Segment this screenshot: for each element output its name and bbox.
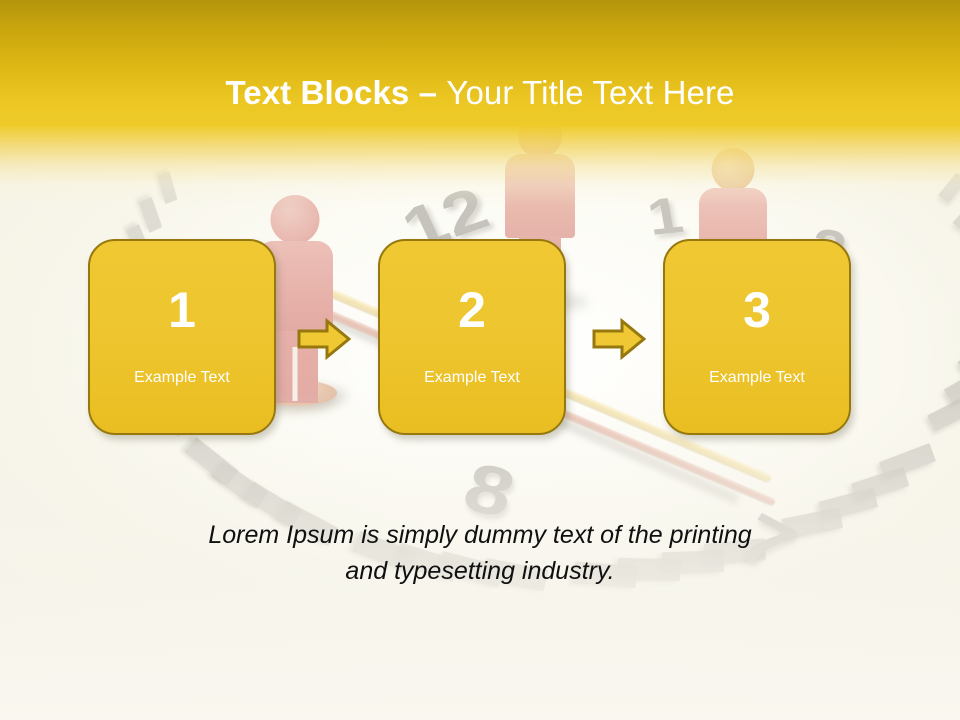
caption-line-2: and typesetting industry. [80, 554, 880, 590]
step-label-3[interactable]: Example Text [665, 369, 849, 387]
right-arrow-icon [297, 318, 351, 360]
step-number-3: 3 [665, 285, 849, 335]
page-title-bold: Text Blocks [225, 74, 409, 111]
right-arrow-icon [592, 318, 646, 360]
figurine-torso [505, 154, 575, 238]
arrow-step-1-to-2 [297, 318, 351, 360]
figurine-head [712, 148, 755, 191]
arrow-step-2-to-3 [592, 318, 646, 360]
step-label-1[interactable]: Example Text [90, 369, 274, 387]
caption-text: Lorem Ipsum is simply dummy text of the … [80, 518, 880, 589]
step-label-2[interactable]: Example Text [380, 369, 564, 387]
page-title-dash: – [409, 74, 446, 111]
page-title-light: Your Title Text Here [446, 74, 734, 111]
page-title: Text Blocks – Your Title Text Here [0, 74, 960, 112]
step-box-1[interactable]: 1 Example Text [88, 239, 276, 435]
caption-line-1: Lorem Ipsum is simply dummy text of the … [80, 518, 880, 554]
slide-canvas: 121287 Text Blocks – Your Titl [0, 0, 960, 720]
step-box-3[interactable]: 3 Example Text [663, 239, 851, 435]
step-number-2: 2 [380, 285, 564, 335]
step-number-1: 1 [90, 285, 274, 335]
step-box-2[interactable]: 2 Example Text [378, 239, 566, 435]
figurine-head [271, 195, 320, 244]
